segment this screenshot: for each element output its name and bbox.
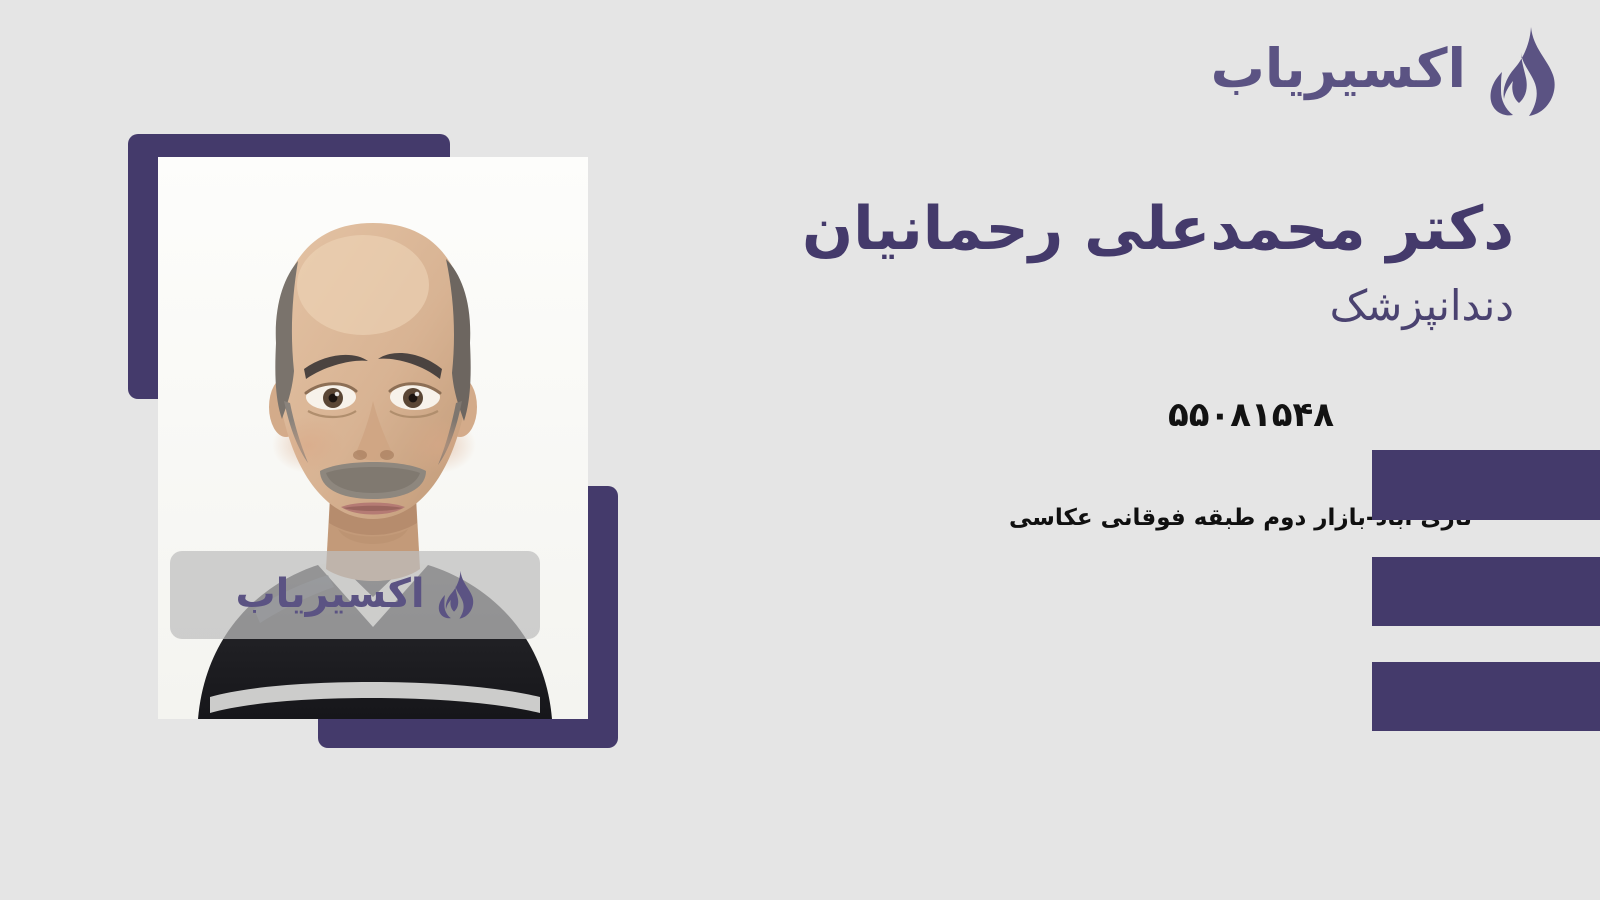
page-title: دکتر محمدعلی رحمانیان bbox=[694, 196, 1514, 263]
brand-logo[interactable]: اکسیریاب bbox=[1211, 24, 1558, 120]
decorative-bar-3 bbox=[1372, 662, 1600, 731]
flame-droplet-icon bbox=[431, 569, 475, 621]
watermark-name: اکسیریاب bbox=[235, 574, 424, 617]
portrait-block: اکسیریاب bbox=[128, 134, 618, 748]
flame-droplet-icon bbox=[1476, 26, 1558, 118]
doctor-photo: اکسیریاب bbox=[158, 157, 588, 719]
doctor-phone[interactable]: ۵۵۰۸۱۵۴۸ bbox=[694, 398, 1514, 432]
photo-watermark: اکسیریاب bbox=[170, 551, 540, 639]
decorative-bar-1 bbox=[1372, 450, 1600, 520]
doctor-specialty: دندانپزشک bbox=[694, 281, 1514, 331]
doctor-profile-card: اکسیریاب bbox=[0, 0, 1600, 900]
decorative-bar-2 bbox=[1372, 557, 1600, 626]
brand-name: اکسیریاب bbox=[1211, 42, 1466, 102]
